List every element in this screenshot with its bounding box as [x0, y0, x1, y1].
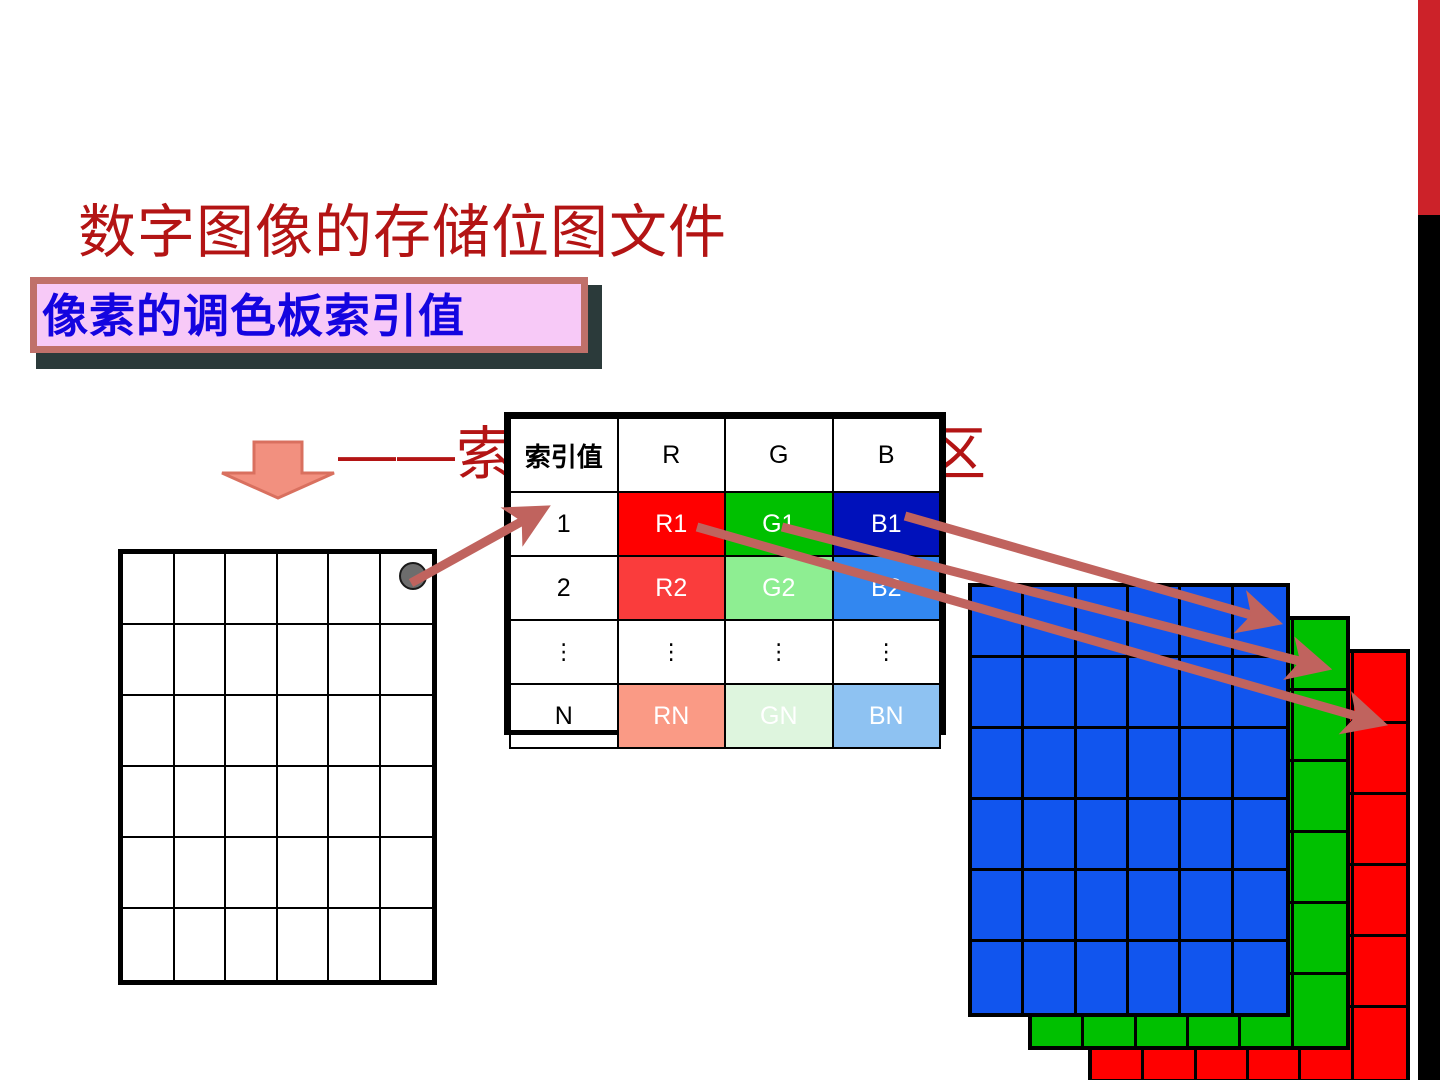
plane-cell [1024, 942, 1076, 1013]
plane-cell [1234, 587, 1286, 658]
plane-cell [1354, 653, 1406, 724]
edge-bar-black-segment [1418, 215, 1440, 1080]
plane-cell [1024, 800, 1076, 871]
plane-cell [1294, 691, 1346, 762]
plane-cell [1129, 729, 1181, 800]
plane-cell [972, 871, 1024, 942]
plane-cell [1181, 658, 1233, 729]
plane-cell [1294, 762, 1346, 833]
plane-cell [1354, 1008, 1406, 1079]
plane-cell [1354, 937, 1406, 1008]
plane-cell [1181, 800, 1233, 871]
plane-cell [1234, 658, 1286, 729]
plane-cell [1077, 871, 1129, 942]
rgb-plane-stack [0, 0, 1440, 1080]
plane-cell [972, 587, 1024, 658]
slide-canvas: 数字图像的存储位图文件 ——索引色模式的数据区 像素的调色板索引值 [0, 0, 1440, 1080]
plane-cell [1294, 975, 1346, 1046]
plane-cell [1024, 871, 1076, 942]
plane-cell [1181, 729, 1233, 800]
edge-bar-red-segment [1418, 0, 1440, 215]
plane-cell [1077, 587, 1129, 658]
plane-cell [1024, 729, 1076, 800]
plane-cell [1077, 658, 1129, 729]
plane-cell [972, 729, 1024, 800]
plane-cell [1234, 729, 1286, 800]
plane-cell [1024, 658, 1076, 729]
plane-cell [1354, 795, 1406, 866]
plane-cell [1129, 871, 1181, 942]
plane-cell [1181, 942, 1233, 1013]
plane-cell [1077, 942, 1129, 1013]
plane-cell [1354, 724, 1406, 795]
plane-cell [1234, 800, 1286, 871]
plane-cell [1234, 871, 1286, 942]
plane-cell [1077, 800, 1129, 871]
plane-cell [1234, 942, 1286, 1013]
right-edge-bar [1418, 0, 1440, 1080]
plane-cell [972, 800, 1024, 871]
plane-cell [1181, 871, 1233, 942]
plane-cell [1129, 942, 1181, 1013]
plane-cell [972, 942, 1024, 1013]
plane-cell [1294, 620, 1346, 691]
plane-cell [1294, 833, 1346, 904]
plane-cell [1077, 729, 1129, 800]
plane-cell [1354, 866, 1406, 937]
blue-plane [968, 583, 1290, 1017]
plane-cell [1181, 587, 1233, 658]
plane-cell [972, 658, 1024, 729]
plane-cell [1129, 658, 1181, 729]
plane-cell [1129, 800, 1181, 871]
plane-cell [1024, 587, 1076, 658]
plane-cell [1294, 904, 1346, 975]
plane-cell [1129, 587, 1181, 658]
